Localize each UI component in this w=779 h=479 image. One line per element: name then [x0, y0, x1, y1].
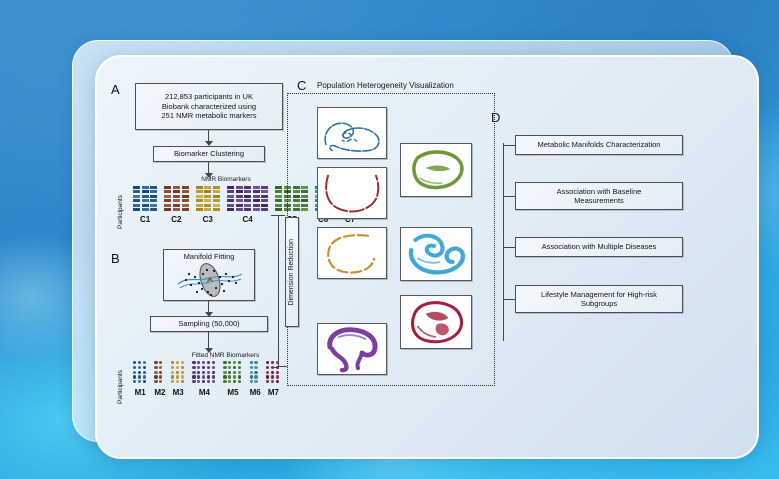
dotplot-dot	[223, 361, 226, 364]
dotplot-dot	[276, 371, 279, 374]
dotplot-dot	[159, 371, 162, 374]
dotplot-dot	[171, 380, 174, 383]
dotplot-dot	[266, 375, 269, 378]
heatmap-cell	[150, 199, 157, 202]
dotplot-dot	[154, 361, 157, 364]
heatmap-column	[275, 186, 282, 211]
heatmap-cell	[133, 204, 140, 207]
dotplot-dot	[197, 361, 200, 364]
heatmap-cell	[244, 208, 251, 211]
dotplot-dot	[254, 366, 257, 369]
intro-line-2: Biobank characterized using	[162, 102, 256, 111]
heatmap-cell	[227, 199, 234, 202]
dotplot-dot	[250, 375, 253, 378]
dotplot-dot	[276, 380, 279, 383]
manifold-fitting-label: Manifold Fitting	[184, 252, 235, 261]
heatmap-title: NMR Biomarkers	[176, 176, 276, 183]
heatmap-cell	[150, 208, 157, 211]
heatmap-cell	[182, 186, 189, 189]
dotplot-dot	[233, 375, 236, 378]
heatmap-cell	[142, 190, 149, 193]
dotplot-dot	[154, 380, 157, 383]
dimension-reduction-box: Dimension Reduction	[285, 217, 299, 327]
dotplot-dot	[143, 366, 146, 369]
heatmap-cell	[164, 208, 171, 211]
heatmap-cell	[173, 199, 180, 202]
connector-d-spine	[503, 143, 504, 341]
heatmap-cell	[253, 195, 260, 198]
heatmap-cell	[275, 186, 282, 189]
dotplot-dot	[212, 375, 215, 378]
dotplot-dot	[223, 380, 226, 383]
dotplot-dot	[233, 371, 236, 374]
heatmap-cell	[173, 195, 180, 198]
dotplot-dot	[138, 380, 141, 383]
manifold-purple-tree	[317, 323, 387, 375]
heatmap-cell	[164, 199, 171, 202]
heatmap-column	[182, 186, 189, 211]
dotplot-dot	[202, 375, 205, 378]
heatmap-cell	[196, 186, 203, 189]
dotplot-dot	[233, 366, 236, 369]
heatmap-column	[253, 186, 260, 211]
heatmap-cell	[236, 204, 243, 207]
dotplot-label-m2: M2	[154, 388, 164, 397]
heatmap-cell	[173, 208, 180, 211]
heatmap-cell	[133, 186, 140, 189]
heatmap-cell	[236, 199, 243, 202]
heatmap-cell	[196, 190, 203, 193]
dotplot-dot	[250, 361, 253, 364]
heatmap-cell	[164, 204, 171, 207]
heatmap-column	[244, 186, 251, 211]
heatmap-cell	[182, 204, 189, 207]
dotplot-dot	[192, 366, 195, 369]
manifold-gold-arc	[317, 227, 387, 279]
dotplot-dot	[143, 361, 146, 364]
outcome-line: Association with Multiple Diseases	[542, 242, 657, 251]
dotplot-dot	[228, 380, 231, 383]
heatmap-column	[133, 186, 140, 211]
outcome-line: Subgroups	[581, 299, 617, 308]
dotplot-dot	[212, 380, 215, 383]
dotplot-dot	[181, 361, 184, 364]
heatmap-cell	[142, 204, 149, 207]
heatmap-cell	[261, 208, 268, 211]
outcome-line: Metabolic Manifolds Characterization	[538, 140, 661, 149]
outcome-box-2: Association with BaselineMeasurements	[515, 182, 683, 210]
dotplot-dot	[238, 380, 241, 383]
dotplot-dot	[207, 366, 210, 369]
dotplot-dot	[276, 375, 279, 378]
heatmap-cell	[182, 195, 189, 198]
heatmap-cell	[275, 199, 282, 202]
heatmap-cell	[253, 199, 260, 202]
panel-letter-a: A	[111, 82, 120, 97]
outcome-line: Lifestyle Management for High-risk	[541, 290, 657, 299]
panel-letter-d: D	[491, 110, 500, 125]
heatmap-cell	[204, 190, 211, 193]
dotplot-cluster-m5	[223, 361, 241, 383]
heatmap-cell	[133, 190, 140, 193]
heatmap-cell	[275, 190, 282, 193]
heatmap-cell	[164, 195, 171, 198]
heatmap-cell	[261, 190, 268, 193]
panel-letter-b: B	[111, 251, 120, 266]
heatmap-cell	[213, 208, 220, 211]
dotplot-dot	[138, 366, 141, 369]
connector-outcome-4	[503, 299, 515, 300]
dotplot-dot	[207, 361, 210, 364]
heatmap-cell	[244, 204, 251, 207]
dotplot-dot	[143, 380, 146, 383]
heatmap-cell	[244, 195, 251, 198]
heatmap-cell	[173, 186, 180, 189]
heatmap-cell	[275, 208, 282, 211]
dotplot-dot	[176, 361, 179, 364]
heatmap-cell	[204, 208, 211, 211]
dotplot-dot	[271, 380, 274, 383]
dotplot-dot	[192, 375, 195, 378]
manifold-maroon-ring	[400, 295, 472, 349]
dotplot-dot	[133, 380, 136, 383]
dotplot-label-m3: M3	[171, 388, 185, 397]
heatmap-cell	[261, 195, 268, 198]
dotplot-dot	[181, 371, 184, 374]
dotplot-dot	[212, 366, 215, 369]
heatmap-cell	[196, 204, 203, 207]
connector-b2	[208, 332, 209, 349]
dotplot-dot	[228, 371, 231, 374]
dotplot-y-label: Participants	[117, 362, 124, 404]
dotplot-cluster-m3	[171, 361, 184, 383]
dotplot-title: Fitted NMR Biomarkers	[173, 352, 278, 359]
dotplot-dot	[181, 375, 184, 378]
dotplot-dot	[154, 371, 157, 374]
heatmap-column	[150, 186, 157, 211]
dotplot-cluster-m6	[250, 361, 258, 383]
heatmap-cell	[133, 195, 140, 198]
dotplot-dot	[171, 361, 174, 364]
dotplot-dot	[138, 361, 141, 364]
dimension-reduction-label: Dimension Reduction	[288, 239, 297, 306]
heatmap-cell	[236, 190, 243, 193]
heatmap-cell	[204, 204, 211, 207]
outcome-line: Association with Baseline	[557, 187, 642, 196]
connector-dimred-vert	[278, 215, 279, 367]
heatmap-cell	[142, 199, 149, 202]
dotplot-dot	[238, 375, 241, 378]
panel-letter-c: C	[297, 78, 306, 93]
sampling-box: Sampling (50,000)	[150, 316, 268, 332]
dotplot-dot	[266, 366, 269, 369]
heatmap-cell	[182, 199, 189, 202]
outcome-box-3: Association with Multiple Diseases	[515, 237, 683, 257]
heatmap-cell	[150, 186, 157, 189]
heatmap-cell	[275, 204, 282, 207]
heatmap-cell	[142, 195, 149, 198]
heatmap-cell	[213, 186, 220, 189]
heatmap-cell	[236, 195, 243, 198]
dotplot-dot	[143, 371, 146, 374]
dotplot-dot	[271, 361, 274, 364]
heatmap-cell	[227, 208, 234, 211]
dotplot-dot	[223, 366, 226, 369]
dotplot-dot	[181, 366, 184, 369]
dotplot-dot	[250, 371, 253, 374]
dotplot-dot	[133, 361, 136, 364]
heatmap-cell	[236, 208, 243, 211]
heatmap-cell	[213, 190, 220, 193]
heatmap-column	[196, 186, 203, 211]
intro-box: 212,853 participants in UK Biobank chara…	[135, 83, 283, 130]
heatmap-cell	[275, 195, 282, 198]
heatmap-cell	[196, 208, 203, 211]
dotplot-dot	[154, 375, 157, 378]
dotplot-dot	[192, 371, 195, 374]
heatmap-cell	[204, 199, 211, 202]
dotplot-dot	[192, 380, 195, 383]
dotplot-dot	[250, 366, 253, 369]
dotplot-dot	[197, 375, 200, 378]
connector-outcome-3	[503, 247, 515, 248]
heatmap-cell	[150, 204, 157, 207]
dotplot-dot	[197, 366, 200, 369]
dotplot-dot	[228, 361, 231, 364]
heatmap-column	[204, 186, 211, 211]
dotplot-dot	[159, 380, 162, 383]
intro-line-1: 212,853 participants in UK	[165, 92, 253, 101]
dotplot-dot	[154, 366, 157, 369]
outcome-line: Measurements	[574, 196, 624, 205]
dotplot-dot	[176, 366, 179, 369]
dotplot-dot	[223, 375, 226, 378]
manifold-blue-squiggle	[317, 107, 387, 159]
dotplot-dot	[212, 371, 215, 374]
dotplot-dot	[233, 380, 236, 383]
dotplot-dot	[197, 371, 200, 374]
heatmap-cell	[261, 204, 268, 207]
heatmap-cell	[227, 195, 234, 198]
dotplot-dot	[202, 371, 205, 374]
heatmap-cell	[261, 199, 268, 202]
manifold-darkred-arc	[317, 167, 387, 219]
dotplot-dot	[133, 371, 136, 374]
dotplot-dot	[233, 361, 236, 364]
heatmap-cell	[196, 199, 203, 202]
cluster-label-c4: C4	[227, 215, 268, 224]
dotplot-dot	[266, 361, 269, 364]
connector-outcome-2	[503, 196, 515, 197]
heatmap-cell	[253, 190, 260, 193]
dotplot-dot	[271, 371, 274, 374]
heatmap-cell	[142, 208, 149, 211]
heatmap-cell	[182, 190, 189, 193]
dotplot-dot	[171, 366, 174, 369]
heatmap-cell	[150, 195, 157, 198]
dotplot-dot	[254, 380, 257, 383]
dotplot-cluster-m4	[192, 361, 214, 383]
heatmap-cell	[213, 204, 220, 207]
heatmap-cell	[173, 190, 180, 193]
dotplot-cluster-m2	[154, 361, 162, 383]
dotplot-dot	[171, 375, 174, 378]
dotplot-dot	[159, 375, 162, 378]
dotplot-dot	[238, 371, 241, 374]
heatmap-column	[164, 186, 171, 211]
dotplot-dot	[202, 361, 205, 364]
heatmap-column	[142, 186, 149, 211]
manifold-green-loop	[400, 143, 472, 197]
figure-canvas: A 212,853 participants in UK Biobank cha…	[95, 55, 755, 455]
heatmap-column	[173, 186, 180, 211]
heatmap-column	[227, 186, 234, 211]
dotplot-dot	[228, 375, 231, 378]
dotplot-dot	[202, 380, 205, 383]
heatmap-cell	[213, 195, 220, 198]
heatmap-cell	[164, 190, 171, 193]
dotplot-dot	[138, 371, 141, 374]
cluster-label-c3: C3	[196, 215, 220, 224]
heatmap-cell	[204, 186, 211, 189]
dotplot-dot	[212, 361, 215, 364]
heatmap-column	[261, 186, 268, 211]
heatmap-cell	[182, 208, 189, 211]
heatmap-cell	[142, 186, 149, 189]
heatmap-cell	[196, 195, 203, 198]
dotplot-dot	[176, 375, 179, 378]
dotplot-dot	[207, 371, 210, 374]
heatmap-cell	[227, 204, 234, 207]
dotplot-dot	[133, 366, 136, 369]
heatmap-cell	[253, 208, 260, 211]
heatmap-cell	[133, 208, 140, 211]
heatmap-column	[213, 186, 220, 211]
dotplot-dot	[197, 380, 200, 383]
dotplot-label-m4: M4	[192, 388, 216, 397]
dotplot-label-m5: M5	[223, 388, 242, 397]
connector-dimred-bottom	[278, 366, 287, 367]
heatmap-cell	[227, 186, 234, 189]
dotplot-dot	[159, 361, 162, 364]
heatmap-column	[236, 186, 243, 211]
heatmap-cell	[244, 186, 251, 189]
dotplot-dot	[176, 371, 179, 374]
heatmap-cell	[261, 186, 268, 189]
heatmap-cell	[244, 199, 251, 202]
dotplot-dot	[171, 371, 174, 374]
dotplot-dot	[266, 380, 269, 383]
intro-line-3: 251 NMR metabolic markers	[161, 111, 256, 120]
heatmap-cell	[213, 199, 220, 202]
outcome-box-1: Metabolic Manifolds Characterization	[515, 135, 683, 155]
heatmap-cell	[253, 186, 260, 189]
dotplot-cluster-m1	[133, 361, 146, 383]
outcome-box-4: Lifestyle Management for High-riskSubgro…	[515, 285, 683, 313]
heatmap-cell	[173, 204, 180, 207]
dotplot-dot	[133, 375, 136, 378]
dotplot-dot	[254, 371, 257, 374]
heatmap-cell	[253, 204, 260, 207]
heatmap-y-label: Participants	[117, 187, 124, 229]
heatmap-cell	[164, 186, 171, 189]
dotplot-dot	[181, 380, 184, 383]
dotplot-dot	[202, 366, 205, 369]
manifold-cyan-blob	[400, 227, 472, 281]
heatmap-cell	[150, 190, 157, 193]
manifold-fitting-box: Manifold Fitting	[163, 249, 255, 301]
connector-outcome-1	[503, 145, 515, 146]
dotplot-dot	[254, 375, 257, 378]
dotplot-dot	[143, 375, 146, 378]
cluster-label-c2: C2	[164, 215, 188, 224]
dotplot-label-m7: M7	[266, 388, 280, 397]
dotplot-dot	[228, 366, 231, 369]
dotplot-dot	[254, 361, 257, 364]
dotplot-label-m6: M6	[250, 388, 260, 397]
dotplot-dot	[192, 361, 195, 364]
dotplot-dot	[207, 380, 210, 383]
dotplot-dot	[176, 380, 179, 383]
heatmap-cell	[236, 186, 243, 189]
dotplot-dot	[238, 366, 241, 369]
heatmap-cell	[244, 190, 251, 193]
connector-dotplot-right	[271, 367, 279, 368]
panel-c-title: Population Heterogeneity Visualization	[317, 81, 454, 90]
dotplot-dot	[138, 375, 141, 378]
cluster-label-c1: C1	[133, 215, 157, 224]
dotplot-dot	[159, 366, 162, 369]
dotplot-dot	[271, 375, 274, 378]
dotplot-dot	[266, 371, 269, 374]
dotplot-dot	[223, 371, 226, 374]
heatmap-cell	[227, 190, 234, 193]
biomarker-clustering-box: Biomarker Clustering	[153, 146, 265, 162]
dotplot-dot	[238, 361, 241, 364]
heatmap-cell	[204, 195, 211, 198]
dotplot-label-m1: M1	[133, 388, 147, 397]
dotplot-dot	[250, 380, 253, 383]
dotplot-dot	[207, 375, 210, 378]
heatmap-cell	[133, 199, 140, 202]
